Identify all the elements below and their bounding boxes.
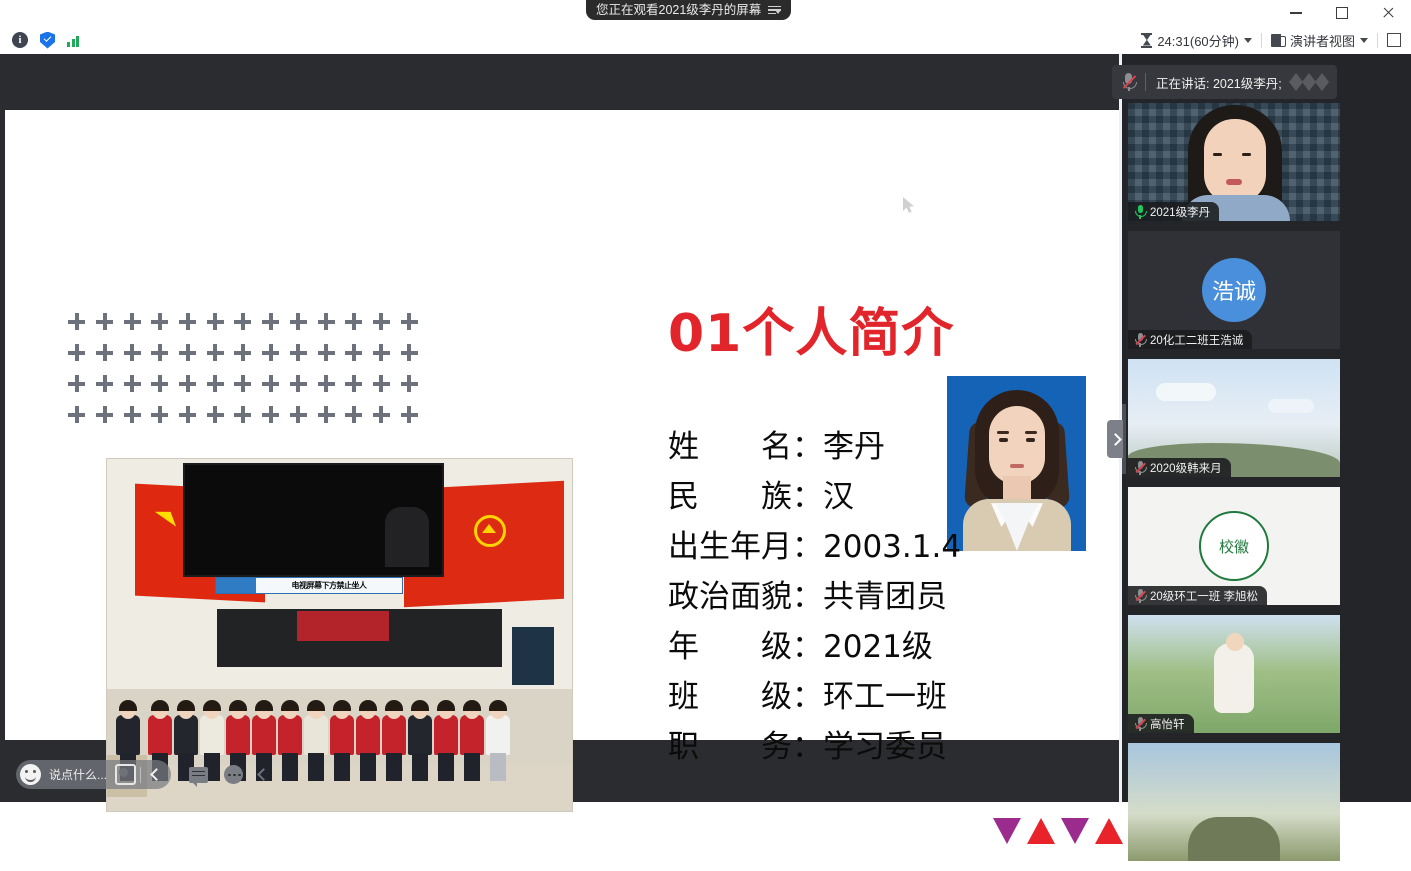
plus-decor-icon xyxy=(96,375,113,392)
mic-muted-icon xyxy=(1135,333,1145,347)
plus-decor-icon xyxy=(290,344,307,361)
participant-tiles: 2021级李丹 浩诚 20化工二班王浩诚 20 xyxy=(1128,103,1408,871)
plus-decor-icon xyxy=(96,406,113,423)
window-controls xyxy=(1273,0,1411,26)
plus-decor-icon xyxy=(124,344,141,361)
security-shield-icon[interactable] xyxy=(40,32,55,49)
presentation-slide: 01个人简介 姓 名：李丹 民 族：汉 出生年月：2003.1.4 政治面貌：共… xyxy=(5,110,1119,740)
plus-decor-icon xyxy=(401,344,418,361)
participant-name: 20级环工一班 李旭松 xyxy=(1150,588,1258,604)
plus-decor-icon xyxy=(96,344,113,361)
screenshare-notice-pill[interactable]: 您正在观看2021级李丹的屏幕 xyxy=(586,0,791,20)
meeting-timer-text: 24:31(60分钟) xyxy=(1157,31,1239,50)
plus-decor-icon xyxy=(179,406,196,423)
chat-extra-actions xyxy=(189,765,268,784)
chevron-down-icon[interactable] xyxy=(1360,38,1368,43)
participant-name: 高怡轩 xyxy=(1150,716,1185,732)
view-mode-label: 演讲者视图 xyxy=(1290,31,1355,50)
plus-decor-icon xyxy=(290,406,307,423)
plus-decor-icon xyxy=(179,344,196,361)
plus-decor-icon xyxy=(401,375,418,392)
close-button[interactable] xyxy=(1365,0,1411,26)
plus-decor-icon xyxy=(124,375,141,392)
emoji-icon[interactable] xyxy=(20,764,41,785)
presenter-view-icon xyxy=(1271,34,1285,47)
plus-decor-icon xyxy=(179,313,196,330)
active-speaker-text: 正在讲话: 2021级李丹; xyxy=(1156,73,1282,92)
plus-decor-icon xyxy=(151,406,168,423)
plus-decor-icon xyxy=(318,406,335,423)
participant-tile-hanlaiyue[interactable]: 2020级韩来月 xyxy=(1128,359,1340,477)
school-logo-icon: 校徽 xyxy=(1214,529,1254,563)
plus-decor-icon xyxy=(262,313,279,330)
toolbar-divider xyxy=(140,767,141,783)
plus-decor-icon xyxy=(401,406,418,423)
participant-name-badge: 20级环工一班 李旭松 xyxy=(1128,586,1267,605)
plus-decor-icon xyxy=(345,375,362,392)
info-row-position: 职 务：学习委员 xyxy=(668,732,1048,763)
plus-decor-icon xyxy=(207,344,224,361)
chevron-down-icon[interactable] xyxy=(1244,38,1252,43)
top-toolbar: i 24:31(60分钟) 演讲者视图 xyxy=(0,26,1411,54)
mic-muted-icon xyxy=(1135,461,1145,475)
plus-decor-icon xyxy=(68,344,85,361)
participant-tile-wanghaocheng[interactable]: 浩诚 20化工二班王浩诚 xyxy=(1128,231,1340,349)
warning-sign-text: 电视屏幕下方禁止坐人 xyxy=(256,580,402,591)
plus-decor-icon xyxy=(151,313,168,330)
plus-decor-icon xyxy=(318,313,335,330)
avatar: 浩诚 xyxy=(1202,258,1266,322)
plus-decor-icon xyxy=(124,313,141,330)
plus-decor-icon xyxy=(318,344,335,361)
info-row-name: 姓 名：李丹 xyxy=(668,432,1048,463)
plus-decor-icon xyxy=(68,313,85,330)
plus-decor-icon xyxy=(290,375,307,392)
shared-screen-stage[interactable]: 01个人简介 姓 名：李丹 民 族：汉 出生年月：2003.1.4 政治面貌：共… xyxy=(0,54,1119,802)
title-bar: 您正在观看2021级李丹的屏幕 xyxy=(0,0,1411,27)
decorative-triangles xyxy=(993,818,1123,844)
participant-tile-partial[interactable] xyxy=(1128,743,1340,861)
toolbar-divider xyxy=(1261,33,1262,48)
plus-decor-icon xyxy=(262,344,279,361)
participant-tile-lidan[interactable]: 2021级李丹 xyxy=(1128,103,1340,221)
participant-name-badge: 2020级韩来月 xyxy=(1128,458,1231,477)
participant-tile-lixusong[interactable]: 校徽 20级环工一班 李旭松 xyxy=(1128,487,1340,605)
participant-video xyxy=(1128,743,1340,861)
plus-decor-icon xyxy=(345,313,362,330)
plus-decor-icon xyxy=(68,375,85,392)
plus-decor-icon xyxy=(179,375,196,392)
mic-muted-icon xyxy=(1122,73,1135,91)
plus-decor-icon xyxy=(151,344,168,361)
plus-decor-icon xyxy=(234,375,251,392)
decorative-diamonds-icon xyxy=(1289,73,1331,91)
chat-bubble-icon[interactable] xyxy=(189,767,208,783)
personal-info-list: 姓 名：李丹 民 族：汉 出生年月：2003.1.4 政治面貌：共青团员 年 级… xyxy=(668,432,1048,782)
plus-decor-icon xyxy=(318,375,335,392)
maximize-button[interactable] xyxy=(1319,0,1365,26)
participants-panel-body: 正在讲话: 2021级李丹; 2021级李丹 xyxy=(1122,54,1411,802)
meeting-timer[interactable]: 24:31(60分钟) xyxy=(1141,31,1252,50)
mic-on-icon xyxy=(1135,205,1145,219)
chat-input[interactable]: 说点什么... xyxy=(45,766,111,783)
plus-decor-icon xyxy=(234,313,251,330)
decorative-plus-grid xyxy=(63,306,423,430)
network-signal-icon[interactable] xyxy=(67,34,79,47)
mic-muted-icon xyxy=(1135,589,1145,603)
plus-decor-icon xyxy=(68,406,85,423)
screenshare-notice-text: 您正在观看2021级李丹的屏幕 xyxy=(596,0,761,20)
info-row-birthdate: 出生年月：2003.1.4 xyxy=(668,532,1048,563)
group-photo: 电视屏幕下方禁止坐人 xyxy=(106,458,573,812)
participants-panel: 正在讲话: 2021级李丹; 2021级李丹 xyxy=(1119,54,1411,802)
plus-decor-icon xyxy=(124,406,141,423)
toolbar-left-group: i xyxy=(12,26,79,54)
toolbar-right-group: 24:31(60分钟) 演讲者视图 xyxy=(1141,26,1401,54)
chat-collapse-button[interactable] xyxy=(145,760,167,789)
plus-decor-icon xyxy=(262,406,279,423)
triangle-down-icon xyxy=(993,818,1021,844)
info-icon[interactable]: i xyxy=(12,32,28,48)
view-mode-selector[interactable]: 演讲者视图 xyxy=(1271,31,1368,50)
participant-name: 2021级李丹 xyxy=(1150,204,1210,220)
group-photo-people xyxy=(107,631,572,781)
group-photo-warning-sign: 电视屏幕下方禁止坐人 xyxy=(215,577,403,594)
plus-decor-icon xyxy=(373,375,390,392)
participant-name: 2020级韩来月 xyxy=(1150,460,1222,476)
panel-expand-handle[interactable] xyxy=(1107,420,1123,458)
triangle-up-icon xyxy=(1027,818,1055,844)
minimize-button[interactable] xyxy=(1273,0,1319,26)
mic-muted-icon xyxy=(1135,717,1145,731)
info-row-ethnicity: 民 族：汉 xyxy=(668,482,1048,513)
meeting-window: 您正在观看2021级李丹的屏幕 i 24:31(60分钟) 演讲者视图 xyxy=(0,0,1411,802)
plus-decor-icon xyxy=(401,313,418,330)
plus-decor-icon xyxy=(345,344,362,361)
plus-decor-icon xyxy=(207,406,224,423)
active-speaker-banner: 正在讲话: 2021级李丹; xyxy=(1112,65,1337,99)
slide-title: 01个人简介 xyxy=(668,306,954,363)
triangle-down-icon xyxy=(1061,818,1089,844)
hamburger-menu-icon[interactable] xyxy=(768,6,781,15)
fullscreen-icon[interactable] xyxy=(1387,33,1401,47)
more-options-icon[interactable] xyxy=(224,765,243,784)
plus-decor-icon xyxy=(373,344,390,361)
info-row-political-status: 政治面貌：共青团员 xyxy=(668,582,1048,613)
triangle-up-icon xyxy=(1095,818,1123,844)
plus-decor-icon xyxy=(373,406,390,423)
chevron-left-icon[interactable] xyxy=(257,768,270,781)
toolbar-divider xyxy=(1377,33,1378,48)
plus-decor-icon xyxy=(207,313,224,330)
chat-input-container[interactable]: 说点什么... xyxy=(16,760,171,789)
plus-decor-icon xyxy=(345,406,362,423)
screenshot-icon[interactable] xyxy=(115,764,136,785)
participant-tile-gaoyixuan[interactable]: 高怡轩 xyxy=(1128,615,1340,733)
hourglass-icon xyxy=(1141,33,1152,48)
plus-decor-icon xyxy=(262,375,279,392)
plus-decor-icon xyxy=(290,313,307,330)
bottom-chat-toolbar: 说点什么... xyxy=(16,760,268,789)
participant-name-badge: 高怡轩 xyxy=(1128,714,1194,733)
participant-name-badge: 20化工二班王浩诚 xyxy=(1128,330,1252,349)
plus-decor-icon xyxy=(373,313,390,330)
plus-decor-icon xyxy=(234,344,251,361)
info-row-grade: 年 级：2021级 xyxy=(668,632,1048,663)
participant-name-badge: 2021级李丹 xyxy=(1128,202,1219,221)
info-row-class: 班 级：环工一班 xyxy=(668,682,1048,713)
plus-decor-icon xyxy=(96,313,113,330)
plus-decor-icon xyxy=(151,375,168,392)
plus-decor-icon xyxy=(207,375,224,392)
participant-name: 20化工二班王浩诚 xyxy=(1150,332,1243,348)
plus-decor-icon xyxy=(234,406,251,423)
